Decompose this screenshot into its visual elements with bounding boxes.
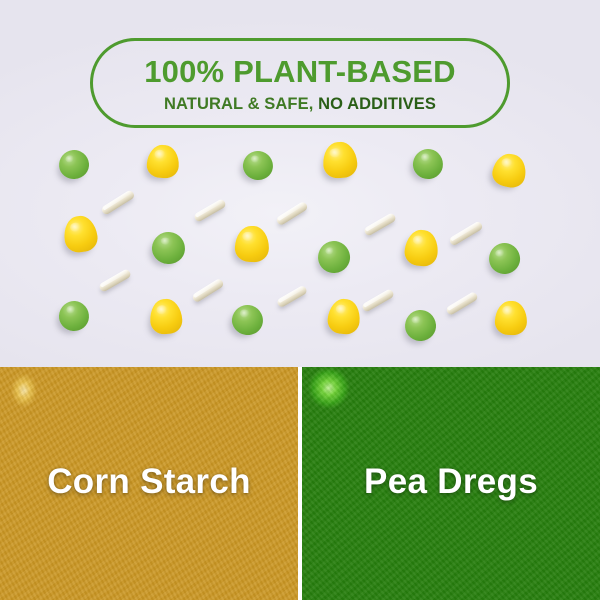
pellet-stick-body xyxy=(275,200,309,226)
corn-pellet xyxy=(494,300,527,335)
pea-pellet xyxy=(230,303,265,337)
pellet-stick xyxy=(193,198,227,223)
pea-pellet-body xyxy=(58,148,91,180)
corn-starch-label: Corn Starch xyxy=(0,464,298,499)
pea-pellet xyxy=(58,300,90,332)
pellet-stick-body xyxy=(448,220,483,246)
pellet-stick xyxy=(275,200,309,226)
badge-title: 100% PLANT-BASED xyxy=(144,56,456,87)
pellet-stick-body xyxy=(276,284,308,308)
pea-pellet xyxy=(403,308,437,342)
pellet-stick-body xyxy=(361,288,395,313)
pea-dregs-panel: Pea Dregs xyxy=(302,367,600,600)
pellet-stick xyxy=(191,277,225,303)
corn-pellet xyxy=(326,297,361,335)
pea-pellet-body xyxy=(150,230,186,265)
pea-dregs-label: Pea Dregs xyxy=(302,464,600,499)
pellet-stick-body xyxy=(100,189,135,216)
pea-pellet xyxy=(150,230,186,265)
corn-pellet-body xyxy=(146,143,180,178)
pellet-stick xyxy=(361,288,395,313)
corn-pellet xyxy=(234,225,269,262)
corn-pellet-body xyxy=(403,228,440,267)
badge-subtitle-light: NATURAL & SAFE, xyxy=(164,95,313,113)
corn-pellet-body xyxy=(326,297,361,335)
corn-pellet-body xyxy=(149,297,183,334)
ingredient-panels: Corn Starch Pea Dregs xyxy=(0,367,600,600)
pea-pellet-body xyxy=(486,240,521,275)
pellet-stick-body xyxy=(191,277,225,303)
pea-pellet xyxy=(241,149,275,182)
corn-pellet xyxy=(403,228,440,267)
corn-starch-panel: Corn Starch xyxy=(0,367,298,600)
pellet-stick xyxy=(98,268,132,293)
pea-pellet-body xyxy=(230,303,265,337)
pellet-stick xyxy=(100,189,135,216)
top-panel: 100% PLANT-BASED NATURAL & SAFE, NO ADDI… xyxy=(0,0,600,367)
badge-subtitle-strong: NO ADDITIVES xyxy=(318,95,436,113)
pellet-stick xyxy=(363,212,397,237)
pea-pellet-body xyxy=(411,147,446,182)
pea-pellet-body xyxy=(241,149,275,182)
pellet-stick xyxy=(445,290,479,315)
product-infographic: 100% PLANT-BASED NATURAL & SAFE, NO ADDI… xyxy=(0,0,600,600)
pellet-stick-body xyxy=(363,212,397,237)
pea-pellet-body xyxy=(316,239,351,274)
pea-pellet-body xyxy=(58,300,90,332)
corn-pellet xyxy=(61,214,99,254)
badge-subtitle: NATURAL & SAFE, NO ADDITIVES xyxy=(164,96,436,113)
pea-pellet-body xyxy=(403,308,437,342)
corn-pellet xyxy=(149,297,183,334)
corn-pellet xyxy=(489,150,528,189)
pellet-stick xyxy=(276,284,308,308)
corn-pellet-body xyxy=(234,225,269,262)
pellet-stick-body xyxy=(98,268,132,293)
pea-pellet xyxy=(486,240,521,275)
corn-pellet xyxy=(322,141,358,179)
plant-based-badge: 100% PLANT-BASED NATURAL & SAFE, NO ADDI… xyxy=(90,38,510,128)
pea-pellet xyxy=(58,148,91,180)
corn-pellet-body xyxy=(489,150,528,189)
corn-pellet-body xyxy=(494,300,527,335)
pellet-stick-body xyxy=(445,290,479,315)
pellet-scatter xyxy=(0,140,600,367)
pea-pellet xyxy=(411,147,446,182)
pea-pellet xyxy=(316,239,351,274)
corn-pellet-body xyxy=(322,141,358,179)
corn-pellet-body xyxy=(61,214,99,254)
pellet-stick xyxy=(448,220,483,246)
pellet-stick-body xyxy=(193,198,227,223)
corn-pellet xyxy=(146,143,180,178)
